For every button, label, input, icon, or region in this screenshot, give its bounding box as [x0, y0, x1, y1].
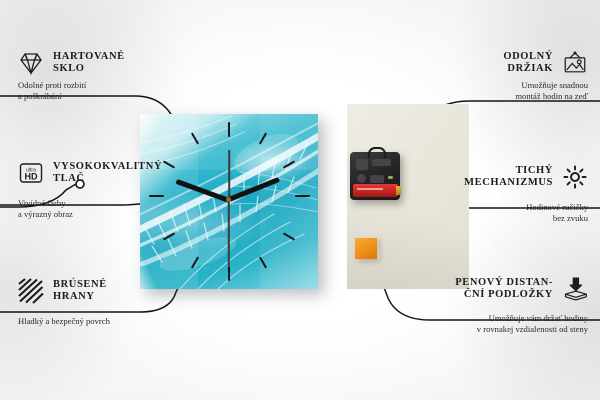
feature-title-line2: HRANY: [53, 291, 107, 304]
feature-title-line1: PENOVÝ DISTAN-: [455, 277, 553, 290]
feature-desc-line1: Hodinové ručičky: [464, 202, 588, 213]
feature-title-line2: SKLO: [53, 63, 125, 76]
second-hand: [228, 200, 230, 266]
mechanism-detail-3: [357, 174, 366, 183]
feature-polished-edges: BRÚSENÉ HRANY Hladký a bezpečný povrch: [18, 278, 110, 327]
feature-title-line1: VYSOKOKVALITNÝ: [53, 161, 162, 174]
mechanism-detail-2: [372, 159, 391, 166]
feature-description: Umožňuje snadnou montáž hodin na zeď: [503, 80, 588, 101]
polished-edges-icon: [18, 278, 44, 304]
feature-desc-line1: Umožňuje snadnou: [503, 80, 588, 91]
mechanism-hanger: [368, 147, 386, 158]
feature-title: HARTOVANÉ SKLO: [53, 51, 125, 76]
tick-3: [295, 195, 310, 197]
product-image: [139, 104, 469, 289]
feature-title: VYSOKOKVALITNÝ TLAČ: [53, 161, 162, 186]
feature-desc-line2: montáž hodin na zeď: [503, 91, 588, 102]
second-hand-upper: [228, 150, 230, 200]
hd-label: HD: [25, 172, 38, 182]
feature-title-line1: ODOLNÝ: [503, 51, 553, 64]
feature-title-line2: DRŽIAK: [503, 63, 553, 76]
feature-title-line2: TLAČ: [53, 173, 162, 186]
feature-desc-line1: Hladký a bezpečný povrch: [18, 316, 110, 327]
feature-title-line1: TICHÝ: [464, 165, 553, 178]
feature-durable-holder: ODOLNÝ DRŽIAK Umožňuje snadnou montáž ho…: [503, 50, 588, 101]
feature-high-quality-print: ultra HD VYSOKOKVALITNÝ TLAČ Vivídné far…: [18, 160, 162, 219]
feature-description: Vivídné farby a výrazný obraz: [18, 198, 162, 219]
foam-pad-arrow-icon: [562, 276, 588, 302]
gear-icon: [562, 164, 588, 190]
tick-12: [228, 122, 230, 137]
feature-description: Odolné proti rozbití a poškrábání: [18, 80, 125, 101]
feature-title-line2: ČNÍ PODLOŽKY: [455, 289, 553, 302]
feature-title-line1: BRÚSENÉ: [53, 279, 107, 292]
feature-title-line1: HARTOVANÉ: [53, 51, 125, 64]
feature-silent-mechanism: TICHÝ MECHANIZMUS Hodinové ručičky bez z…: [464, 164, 588, 223]
foam-spacer-pad: [355, 238, 377, 259]
feature-desc-line2: bez zvuku: [464, 213, 588, 224]
feature-desc-line1: Umožňuje vám držať hodiny: [455, 313, 588, 324]
feature-desc-line2: a poškrábání: [18, 91, 125, 102]
wall-mount-picture-icon: [562, 50, 588, 76]
feature-description: Hladký a bezpečný povrch: [18, 316, 110, 327]
mechanism-detail-5: [388, 176, 393, 179]
feature-desc-line2: v rovnakej vzdialenosti od steny: [455, 324, 588, 335]
feature-title: PENOVÝ DISTAN- ČNÍ PODLOŽKY: [455, 277, 553, 302]
feature-description: Umožňuje vám držať hodiny v rovnakej vzd…: [455, 313, 588, 334]
aa-battery: [353, 184, 398, 197]
battery-stripe: [357, 188, 383, 190]
battery-cap: [396, 186, 401, 195]
hands-hub: [226, 197, 231, 202]
feature-title: TICHÝ MECHANIZMUS: [464, 165, 553, 190]
feature-title: BRÚSENÉ HRANY: [53, 279, 107, 304]
diamond-icon: [18, 50, 44, 76]
foam-pad-side: [377, 240, 381, 259]
feature-foam-spacers: PENOVÝ DISTAN- ČNÍ PODLOŽKY Umožňuje vám…: [455, 276, 588, 334]
feature-tempered-glass: HARTOVANÉ SKLO Odolné proti rozbití a po…: [18, 50, 125, 101]
glass-clock-face: [140, 114, 318, 289]
feature-title: ODOLNÝ DRŽIAK: [503, 51, 553, 76]
feature-description: Hodinové ručičky bez zvuku: [464, 202, 588, 223]
tick-6: [228, 266, 230, 281]
feature-title-line2: MECHANIZMUS: [464, 177, 553, 190]
infographic-canvas: HARTOVANÉ SKLO Odolné proti rozbití a po…: [0, 0, 600, 400]
feature-desc-line1: Odolné proti rozbití: [18, 80, 125, 91]
ultra-hd-icon: ultra HD: [18, 160, 44, 186]
mechanism-detail-4: [370, 175, 384, 183]
mechanism-detail-1: [356, 159, 368, 170]
feature-desc-line2: a výrazný obraz: [18, 209, 162, 220]
feature-desc-line1: Vivídné farby: [18, 198, 162, 209]
